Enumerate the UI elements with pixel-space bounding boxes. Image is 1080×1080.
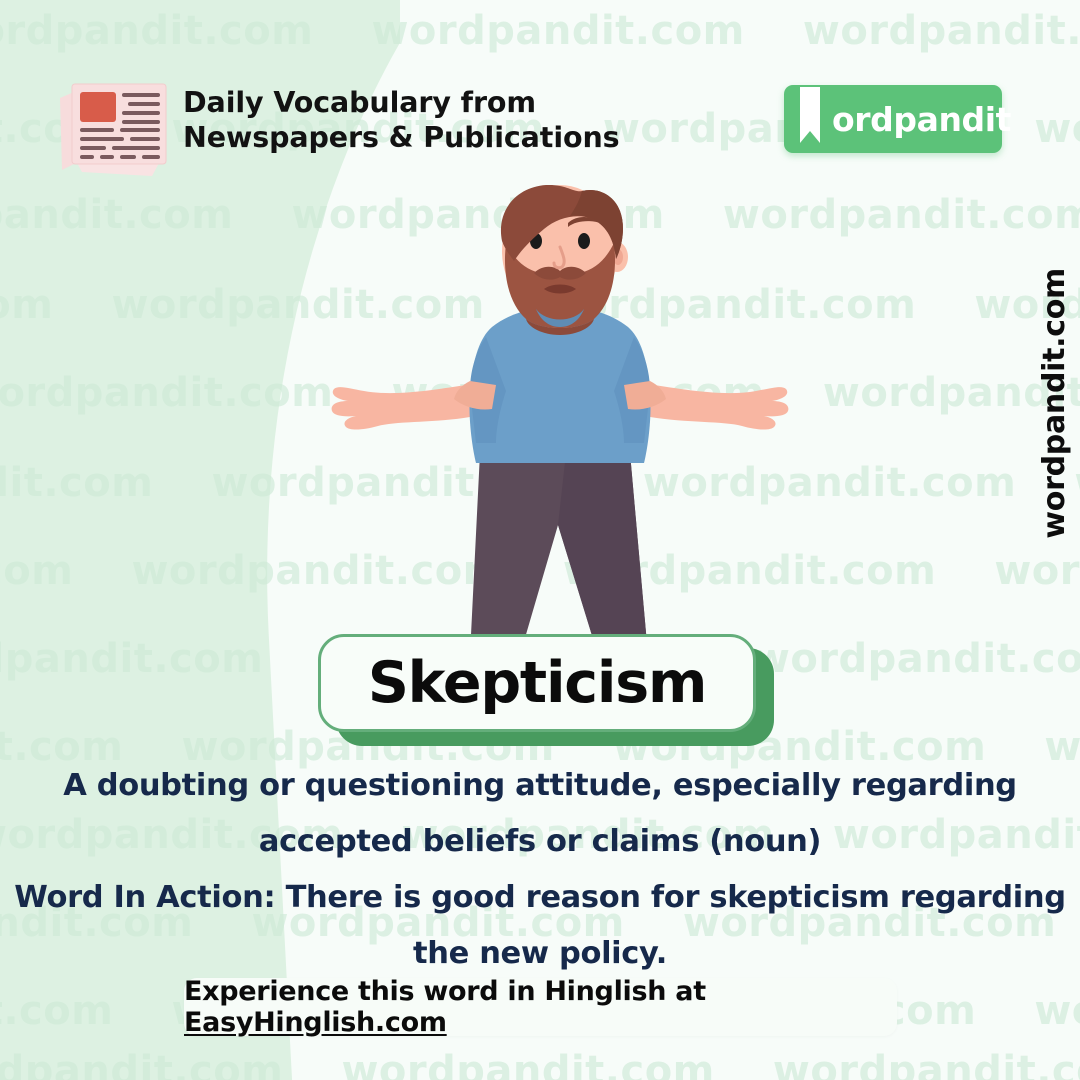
- wordpandit-logo[interactable]: ordpandit: [784, 85, 1002, 153]
- side-watermark-text: wordpandit.com: [1037, 268, 1072, 539]
- word-definition: A doubting or questioning attitude, espe…: [0, 758, 1080, 871]
- poster-header: Daily Vocabulary from Newspapers & Publi…: [0, 0, 1080, 190]
- hinglish-banner[interactable]: Experience this word in Hinglish at Easy…: [184, 978, 897, 1036]
- hinglish-banner-text: Experience this word in Hinglish at Easy…: [184, 976, 897, 1038]
- shrugging-man-illustration: [330, 185, 790, 665]
- easyhinglish-link[interactable]: EasyHinglish.com: [184, 1007, 447, 1038]
- logo-text: ordpandit: [832, 85, 1011, 153]
- word-card: Skepticism: [318, 634, 774, 746]
- vocabulary-word: Skepticism: [368, 650, 706, 716]
- newspaper-icon: [52, 68, 182, 178]
- page-title: Daily Vocabulary from Newspapers & Publi…: [183, 86, 620, 156]
- word-in-action-example: Word In Action: There is good reason for…: [0, 870, 1080, 983]
- hinglish-banner-prefix: Experience this word in Hinglish at: [184, 976, 706, 1007]
- vocabulary-poster: wordpandit.comwordpandit.comwordpandit.c…: [0, 0, 1080, 1080]
